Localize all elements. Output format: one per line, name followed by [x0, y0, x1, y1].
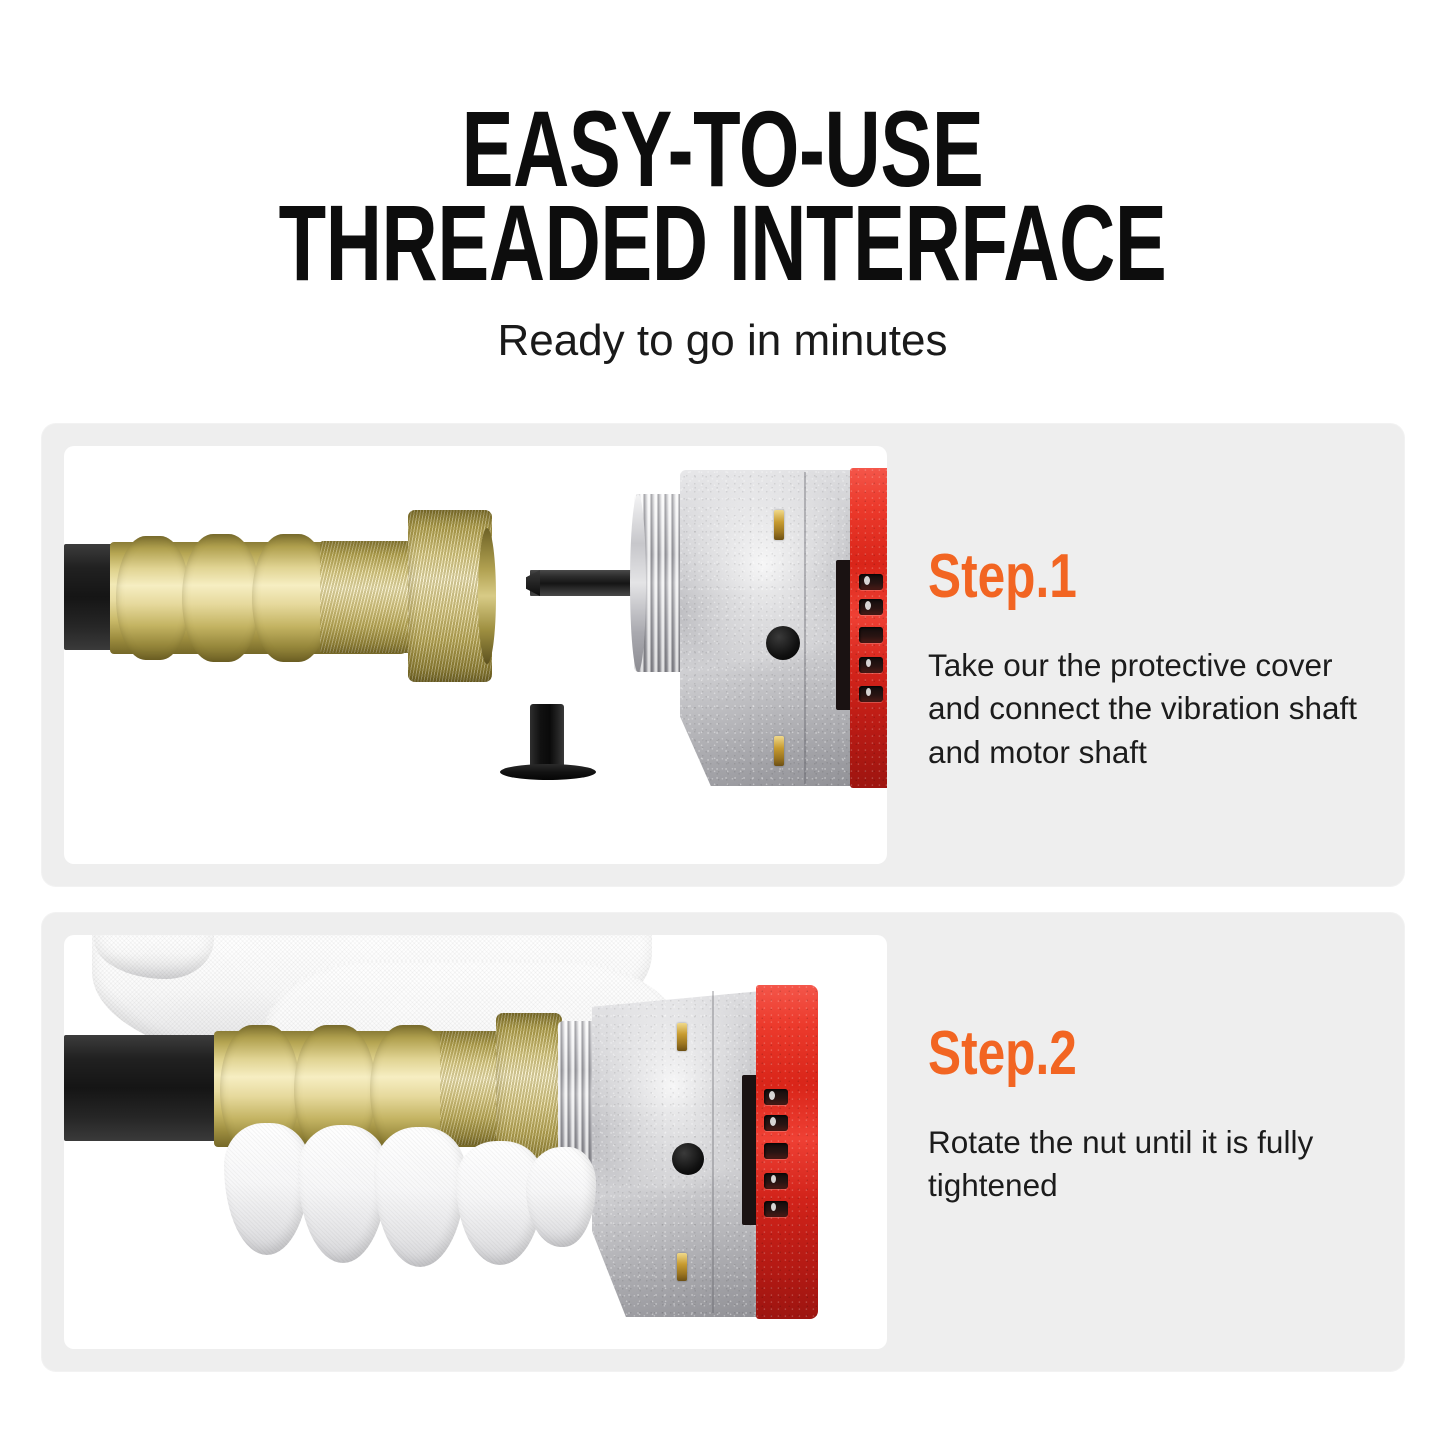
vent-slot-icon: [859, 657, 883, 673]
brass-screw-icon: [677, 1253, 687, 1281]
vent-slot-icon: [764, 1143, 788, 1159]
step-2-text-column: Step.2 Rotate the nut until it is fully …: [928, 1023, 1388, 1208]
brass-rib-icon: [182, 534, 260, 662]
glove-finger-icon: [224, 1123, 310, 1255]
hex-shaft-icon: [530, 570, 642, 596]
vent-gloss-icon: [866, 688, 871, 696]
black-hose-icon: [64, 1035, 232, 1141]
step-card-1: Step.1 Take our the protective cover and…: [42, 424, 1404, 886]
brass-rib-icon: [252, 534, 330, 662]
protective-cover-flange-icon: [500, 764, 596, 780]
vent-slot-icon: [764, 1089, 788, 1105]
vent-slot-icon: [859, 627, 883, 643]
motor-housing-seam-icon: [712, 991, 714, 1313]
vent-slot-icon: [764, 1173, 788, 1189]
vent-gloss-icon: [864, 576, 870, 585]
brass-screw-icon: [774, 736, 784, 766]
vent-gloss-icon: [769, 1091, 775, 1100]
vent-slot-icon: [764, 1201, 788, 1217]
step-2-photo: [64, 935, 887, 1349]
step-1-label: Step.1: [928, 546, 1296, 608]
vent-gloss-icon: [770, 1117, 776, 1126]
step-2-description: Rotate the nut until it is fully tighten…: [928, 1121, 1388, 1208]
vent-gloss-icon: [771, 1175, 776, 1183]
page-title-line-2: THREADED INTERFACE: [202, 190, 1242, 296]
brass-screw-icon: [677, 1023, 687, 1051]
step-card-2: Step.2 Rotate the nut until it is fully …: [42, 913, 1404, 1371]
brass-rib-icon: [116, 536, 190, 660]
vent-slot-icon: [859, 574, 883, 590]
motor-housing-seam-icon: [804, 472, 806, 784]
step-1-text-column: Step.1 Take our the protective cover and…: [928, 546, 1388, 774]
vent-gloss-icon: [865, 601, 871, 610]
hex-shaft-tip-icon: [526, 570, 540, 596]
vent-slot-icon: [764, 1115, 788, 1131]
glove-thumb-icon: [526, 1147, 596, 1247]
collar-face-icon: [630, 494, 646, 672]
port-hole-icon: [672, 1143, 704, 1175]
step-2-illustration: [64, 935, 887, 1349]
vent-slot-icon: [859, 686, 883, 702]
vent-gloss-icon: [771, 1203, 776, 1211]
step-1-photo: [64, 446, 887, 864]
brass-nut-bore-icon: [478, 528, 496, 664]
brass-knurl-icon: [440, 1031, 502, 1145]
brass-screw-icon: [774, 510, 784, 540]
step-1-description: Take our the protective cover and connec…: [928, 644, 1388, 774]
step-1-illustration: [64, 446, 887, 864]
brass-knurl-icon: [320, 541, 416, 653]
black-hose-icon: [64, 544, 116, 650]
vent-slot-icon: [859, 599, 883, 615]
step-2-label: Step.2: [928, 1023, 1296, 1085]
protective-cover-icon: [530, 704, 564, 770]
port-hole-icon: [766, 626, 800, 660]
page-subtitle: Ready to go in minutes: [0, 316, 1445, 366]
glove-finger-icon: [374, 1127, 466, 1267]
vent-gloss-icon: [866, 659, 871, 667]
